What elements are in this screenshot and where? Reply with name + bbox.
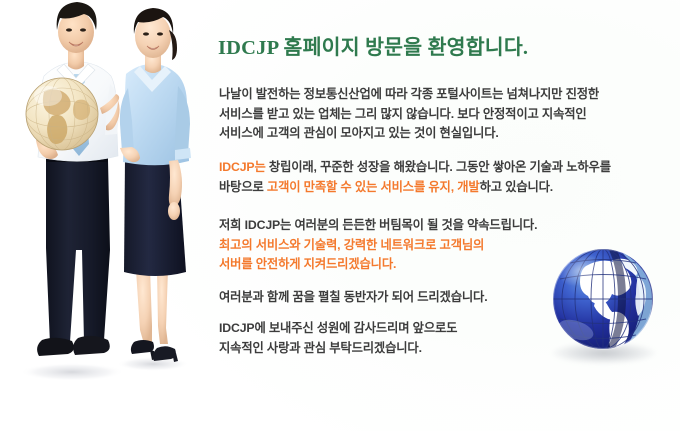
body-text: 하고 있습니다.: [480, 180, 554, 194]
body-text: 저희 IDCJP는 여러분의 든든한 버팀목이 될 것을 약속드립니다.: [219, 218, 537, 232]
page-title: IDCJP 홈페이지 방문을 환영합니다.: [218, 30, 528, 60]
body-text: 바탕으로: [219, 180, 267, 194]
text-line: 지속적인 사랑과 관심 부탁드리겠습니다.: [219, 341, 422, 355]
woman-figure: [120, 8, 191, 362]
text-line: 서비스를 받고 있는 업체는 그리 많지 않습니다. 보다 안정적이고 지속적인: [219, 107, 587, 121]
body-text: 지속적인 사랑과 관심 부탁드리겠습니다.: [219, 341, 422, 355]
held-globe: [26, 78, 98, 150]
man-trousers: [46, 160, 110, 344]
welcome-page: IDCJP 홈페이지 방문을 환영합니다. 나날이 발전하는 정보통신산업에 따…: [0, 0, 680, 431]
man-left-shoe: [37, 338, 74, 356]
blue-earth-globe-graphic: [550, 246, 656, 352]
text-line: 여러분과 함께 꿈을 펼칠 동반자가 되어 드리겠습니다.: [219, 290, 487, 304]
held-globe-highlight: [34, 86, 62, 106]
woman-left-leg: [136, 268, 152, 344]
text-line: IDCJP에 보내주신 성원에 감사드리며 앞으로도: [219, 321, 457, 335]
man-right-eye: [80, 28, 86, 31]
paragraph-2: IDCJP는 창립이래, 꾸준한 성장을 해왔습니다. 그동안 쌓아온 기술과 …: [219, 158, 674, 197]
emphasis-text: 고객이 만족할 수 있는 서비스를 유지, 개발: [267, 180, 480, 194]
body-text: 창립이래, 꾸준한 성장을 해왔습니다. 그동안 쌓아온 기술과 노하우를: [266, 160, 611, 174]
woman-right-eye: [157, 32, 163, 35]
body-text: 서비스를 받고 있는 업체는 그리 많지 않습니다. 보다 안정적이고 지속적인: [219, 107, 587, 121]
emphasis-text: 최고의 서비스와 기술력, 강력한 네트워크로 고객님의: [219, 238, 484, 252]
man-left-eye: [66, 28, 72, 31]
man-figure: [26, 2, 120, 356]
business-couple-illustration: [0, 0, 215, 431]
emphasis-text: IDCJP는: [219, 160, 266, 174]
held-globe-landmass-east: [73, 100, 90, 120]
body-text: 서비스에 고객의 관심이 모아지고 있는 것이 현실입니다.: [219, 126, 499, 140]
text-line: IDCJP는 창립이래, 꾸준한 성장을 해왔습니다. 그동안 쌓아온 기술과 …: [219, 160, 611, 174]
woman-right-hand: [168, 202, 180, 220]
woman-left-eye: [143, 32, 149, 35]
body-text: 나날이 발전하는 정보통신산업에 따라 각종 포털사이트는 넘쳐나지만 진정한: [219, 87, 599, 101]
body-text: 여러분과 함께 꿈을 펼칠 동반자가 되어 드리겠습니다.: [219, 290, 487, 304]
business-couple-photo: [0, 0, 215, 431]
text-line: 저희 IDCJP는 여러분의 든든한 버팀목이 될 것을 약속드립니다.: [219, 218, 537, 232]
text-line: 나날이 발전하는 정보통신산업에 따라 각종 포털사이트는 넘쳐나지만 진정한: [219, 87, 599, 101]
paragraph-1: 나날이 발전하는 정보통신산업에 따라 각종 포털사이트는 넘쳐나지만 진정한서…: [219, 85, 674, 144]
text-line: 최고의 서비스와 기술력, 강력한 네트워크로 고객님의: [219, 238, 484, 252]
body-text: IDCJP에 보내주신 성원에 감사드리며 앞으로도: [219, 321, 457, 335]
emphasis-text: 서버를 안전하게 지켜드리겠습니다.: [219, 257, 396, 271]
blue-earth-globe: [548, 246, 660, 371]
man-right-shoe: [73, 336, 110, 355]
text-line: 서버를 안전하게 지켜드리겠습니다.: [219, 257, 396, 271]
man-floor-shadow: [20, 363, 124, 381]
text-line: 서비스에 고객의 관심이 모아지고 있는 것이 현실입니다.: [219, 126, 499, 140]
text-line: 바탕으로 고객이 만족할 수 있는 서비스를 유지, 개발하고 있습니다.: [219, 180, 553, 194]
woman-sleeve-cuff: [175, 148, 191, 160]
woman-right-leg: [157, 268, 168, 344]
